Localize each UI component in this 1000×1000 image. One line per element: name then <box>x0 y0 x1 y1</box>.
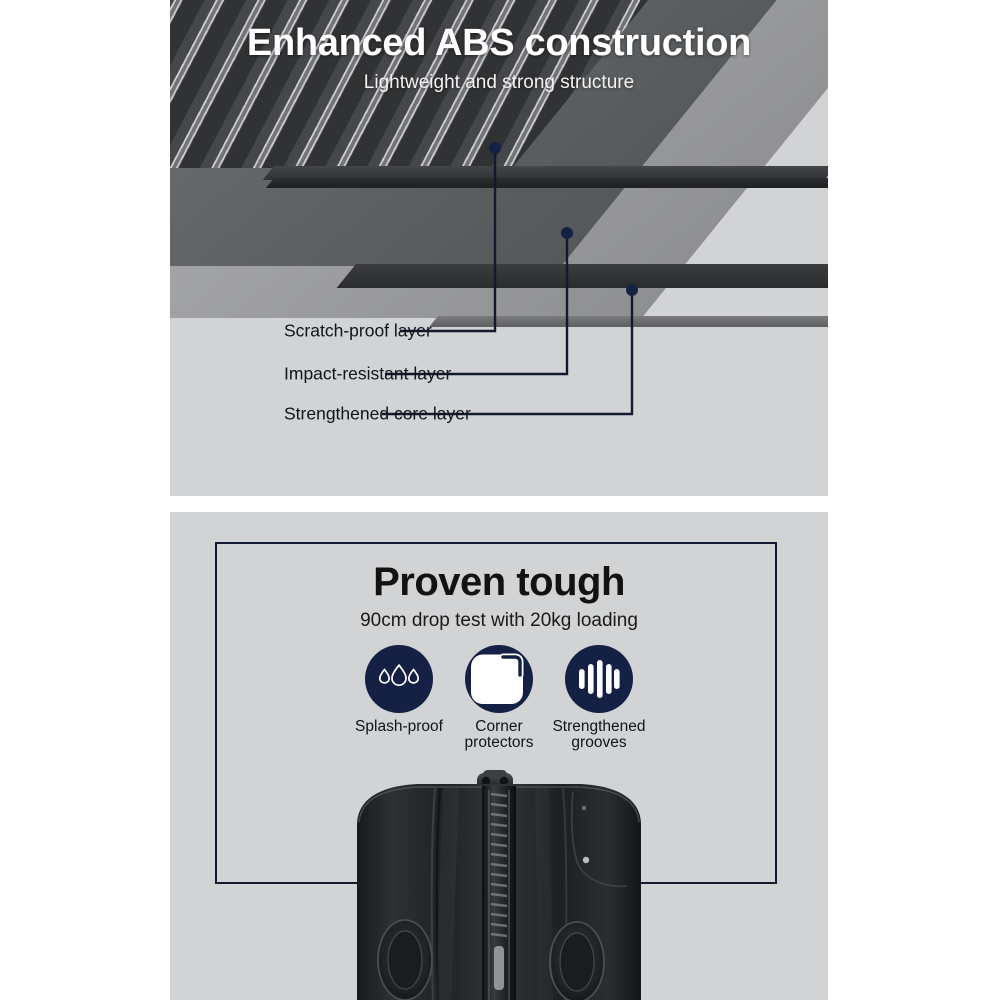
abs-panel-title: Enhanced ABS construction <box>170 22 828 65</box>
feature-corner-protectors: Corner protectors <box>451 645 547 752</box>
proven-tough-panel: Proven tough 90cm drop test with 20kg lo… <box>170 512 828 1000</box>
corner-protectors-badge <box>465 645 533 713</box>
feature-label-splash-proof: Splash-proof <box>351 719 447 735</box>
leader-line-3 <box>382 290 632 414</box>
feature-label-strengthened-grooves: Strengthened grooves <box>551 719 647 752</box>
leader-line-2 <box>385 233 567 374</box>
suitcase-product-image <box>339 770 659 1000</box>
feature-strengthened-grooves: Strengthened grooves <box>551 645 647 752</box>
infographic-root: Scratch-proof layer Impact-resistant lay… <box>0 0 1000 1000</box>
callout-label-impact-resistant: Impact-resistant layer <box>284 364 451 385</box>
abs-construction-panel: Scratch-proof layer Impact-resistant lay… <box>170 0 828 496</box>
proven-tough-title: Proven tough <box>170 560 828 605</box>
grooves-bars-icon <box>576 656 622 702</box>
water-droplets-icon <box>375 662 423 696</box>
splash-proof-badge <box>365 645 433 713</box>
proven-tough-subtitle: 90cm drop test with 20kg loading <box>170 610 828 632</box>
callout-dot-2 <box>561 227 573 239</box>
feature-badge-row: Splash-proof Corner protectors <box>170 645 828 752</box>
strengthened-grooves-badge <box>565 645 633 713</box>
callout-dot-3 <box>626 284 638 296</box>
feature-label-corner-protectors: Corner protectors <box>451 719 547 752</box>
callout-dot-1 <box>489 142 501 154</box>
leader-line-1 <box>400 148 495 331</box>
callout-label-strengthened-core: Strengthened core layer <box>284 404 471 425</box>
callout-label-scratch-proof: Scratch-proof layer <box>284 321 432 342</box>
black-hardshell-suitcase-graphic <box>339 770 659 1000</box>
suitcase-vent-left <box>378 920 432 1000</box>
abs-panel-subtitle: Lightweight and strong structure <box>170 72 828 94</box>
corner-protector-icon <box>465 645 533 713</box>
feature-splash-proof: Splash-proof <box>351 645 447 735</box>
suitcase-vent-right <box>550 922 604 1000</box>
